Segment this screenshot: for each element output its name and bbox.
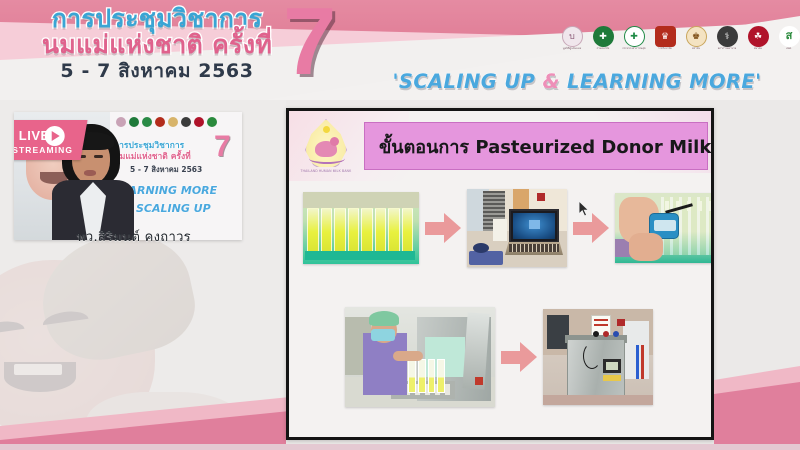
p5-notice-line bbox=[594, 319, 608, 321]
process-flow-row-2 bbox=[345, 307, 653, 407]
logo-department-health-icon: ✚ bbox=[624, 26, 645, 47]
logo-ministry-public-health-green-icon: ✚ bbox=[593, 26, 614, 47]
poster-logo-3-icon bbox=[142, 117, 152, 127]
slide-title: ขั้นตอนการ Pasteurized Donor Milk bbox=[379, 132, 711, 161]
p1-bottle bbox=[375, 208, 387, 252]
speaker-column: การประชุมวิชาการ นมแม่แห่งชาติ ครั้งที่ … bbox=[0, 100, 286, 450]
watermark-child-teeth bbox=[14, 364, 62, 375]
photo-pasteurizer-machine bbox=[543, 309, 653, 405]
p5-red-hose bbox=[641, 345, 644, 379]
p1-ceiling bbox=[303, 192, 419, 208]
p1-bottle bbox=[334, 208, 346, 252]
live-streaming-badge: LIVE STREAMING bbox=[14, 120, 88, 160]
p4-bottle bbox=[428, 359, 436, 393]
logo-caption: สภาการพยาบาล bbox=[715, 48, 739, 51]
bottom-strip bbox=[0, 444, 800, 450]
poster-logo-2-icon bbox=[129, 117, 139, 127]
p2-mousepad bbox=[469, 251, 503, 265]
p5-power-cord bbox=[583, 343, 601, 369]
logo-caption: สถาบัน bbox=[684, 48, 708, 51]
p1-bottle bbox=[307, 208, 319, 252]
logo-royal-college-icon: ♛ bbox=[655, 26, 676, 47]
flow-arrow-3-icon bbox=[501, 342, 537, 372]
play-icon bbox=[45, 126, 65, 146]
p5-display-screen bbox=[603, 359, 621, 373]
poster-date: 5 - 7 สิงหาคม 2563 bbox=[130, 164, 202, 176]
speaker-eye-right bbox=[94, 155, 103, 158]
p5-yellow-label bbox=[603, 375, 621, 381]
logo-caption: สมาคม bbox=[746, 48, 770, 51]
presentation-stage: การประชุมวิชาการ นมแม่แห่งชาติ ครั้งที่ … bbox=[0, 0, 800, 450]
logo-department-health: ✚ กระทรวงสาธารณสุข bbox=[622, 26, 646, 51]
p2-laptop-keyboard bbox=[509, 244, 559, 252]
p2-red-marker bbox=[537, 193, 545, 201]
logo-baby-head bbox=[330, 137, 339, 146]
poster-logo-5-icon bbox=[168, 117, 178, 127]
mouse-pointer-icon bbox=[578, 200, 590, 218]
logo-caption: กระทรวงสาธารณสุข bbox=[622, 48, 646, 51]
human-milk-bank-logo: THAILAND HUMAN MILK BANK bbox=[295, 115, 355, 181]
logo-caption: ราชวิทยาลัย bbox=[653, 48, 677, 51]
logo-thaihealth-sss: ส สสส. bbox=[777, 26, 800, 51]
p4-bottle bbox=[437, 359, 445, 393]
p2-mouse bbox=[473, 243, 489, 253]
p4-bottle bbox=[418, 359, 426, 393]
conference-title-line2: นมแม่แห่งชาติ ครั้งที่ bbox=[24, 32, 290, 57]
p3-second-hand bbox=[629, 233, 663, 261]
p5-control-button-red bbox=[603, 331, 609, 337]
logo-thaihealth-sss-icon: ส bbox=[779, 26, 800, 47]
p4-nurse-arm bbox=[393, 351, 423, 361]
logo-caption: สสส. bbox=[777, 48, 800, 51]
conference-date: 5 - 7 สิงหาคม 2563 bbox=[24, 62, 290, 81]
photo-laptop-monitoring-station bbox=[467, 189, 567, 267]
p2-laptop-window-icon bbox=[529, 220, 540, 229]
p1-bottle bbox=[321, 208, 333, 252]
p4-red-sign bbox=[475, 377, 483, 385]
conference-slogan: 'SCALING UP & LEARNING MORE' bbox=[362, 70, 792, 93]
logo-red-shield: ☘ สมาคม bbox=[746, 26, 770, 51]
logo-royal-emblem-icon: ♚ bbox=[686, 26, 707, 47]
logo-caption: กรมอนามัย bbox=[591, 48, 615, 51]
conference-title: การประชุมวิชาการ นมแม่แห่งชาติ ครั้งที่ … bbox=[24, 6, 290, 81]
p5-dark-panel bbox=[547, 315, 569, 349]
p2-paper bbox=[493, 219, 507, 241]
logo-cradling-hands-icon bbox=[309, 153, 345, 164]
p1-bottle-rack bbox=[307, 208, 413, 252]
logo-royal-emblem: ♚ สถาบัน bbox=[684, 26, 708, 51]
p5-control-button-blue bbox=[613, 331, 619, 337]
arrow-head bbox=[592, 213, 609, 243]
poster-logo-7-icon bbox=[194, 117, 204, 127]
p4-nurse-face-mask bbox=[371, 329, 395, 341]
p5-blue-hose bbox=[636, 345, 639, 379]
logo-red-shield-icon: ☘ bbox=[748, 26, 769, 47]
logo-nursing-council-icon: ⚕ bbox=[717, 26, 738, 47]
photo-hand-holding-digital-timer bbox=[615, 193, 714, 263]
slogan-ampersand: & bbox=[542, 70, 559, 93]
flow-arrow-1-icon bbox=[425, 213, 461, 243]
logo-nursing-council: ⚕ สภาการพยาบาล bbox=[715, 26, 739, 51]
live-video-tile[interactable]: การประชุมวิชาการ นมแม่แห่งชาติ ครั้งที่ … bbox=[14, 112, 242, 240]
p1-pallet bbox=[305, 251, 415, 260]
slide-title-banner: ขั้นตอนการ Pasteurized Donor Milk bbox=[364, 122, 708, 170]
streaming-badge-label: STREAMING bbox=[14, 145, 73, 155]
p5-control-button-black bbox=[593, 331, 599, 337]
photo-milk-bottle-racks bbox=[303, 192, 419, 264]
speaker-mouth bbox=[84, 170, 96, 176]
conference-edition-number: 7 bbox=[283, 0, 336, 90]
logo-caption: มูลนิธิศูนย์นมแม่ bbox=[560, 48, 584, 51]
logo-thai-breastfeeding-foundation: บ มูลนิธิศูนย์นมแม่ bbox=[560, 26, 584, 51]
right-decorative-band-dark bbox=[714, 382, 800, 450]
slogan-suffix: LEARNING MORE' bbox=[560, 70, 762, 93]
poster-logo-6-icon bbox=[181, 117, 191, 127]
p1-bottle bbox=[361, 208, 373, 252]
p1-bottle bbox=[348, 208, 360, 252]
p4-tray-slot bbox=[445, 384, 450, 395]
p1-bottle bbox=[402, 208, 414, 252]
poster-edition-number: 7 bbox=[214, 132, 231, 162]
photo-nurse-loading-pasteurizer bbox=[345, 307, 495, 407]
logo-thai-breastfeeding-foundation-icon: บ bbox=[562, 26, 583, 47]
organizer-logos: บ มูลนิธิศูนย์นมแม่ ✚ กรมอนามัย ✚ กระทรว… bbox=[560, 26, 800, 51]
p4-bottle bbox=[408, 359, 416, 393]
poster-logo-row bbox=[116, 117, 217, 127]
presentation-slide[interactable]: THAILAND HUMAN MILK BANK ขั้นตอนการ Past… bbox=[286, 108, 714, 440]
conference-title-line1: การประชุมวิชาการ bbox=[24, 6, 290, 31]
logo-royal-college: ♛ ราชวิทยาลัย bbox=[653, 26, 677, 51]
poster-logo-8-icon bbox=[207, 117, 217, 127]
slogan-prefix: 'SCALING UP bbox=[393, 70, 543, 93]
milk-droplet-icon bbox=[323, 126, 330, 133]
process-flow-row-1 bbox=[303, 189, 714, 267]
arrow-head bbox=[444, 213, 461, 243]
arrow-head bbox=[520, 342, 537, 372]
p5-red-sign bbox=[617, 319, 625, 326]
logo-caption: THAILAND HUMAN MILK BANK bbox=[295, 169, 357, 173]
p1-bottle bbox=[388, 208, 400, 252]
p4-nurse-surgical-cap bbox=[369, 311, 399, 326]
poster-slogan-line2: SCALING UP bbox=[136, 202, 211, 215]
poster-logo-4-icon bbox=[155, 117, 165, 127]
p5-notice-line bbox=[594, 324, 608, 326]
p5-floor bbox=[543, 395, 653, 405]
logo-ministry-public-health-green: ✚ กรมอนามัย bbox=[591, 26, 615, 51]
conference-header-banner: การประชุมวิชาการ นมแม่แห่งชาติ ครั้งที่ … bbox=[0, 0, 800, 100]
speaker-name: พว.สิริมนต์ คงถาวร bbox=[14, 226, 254, 247]
